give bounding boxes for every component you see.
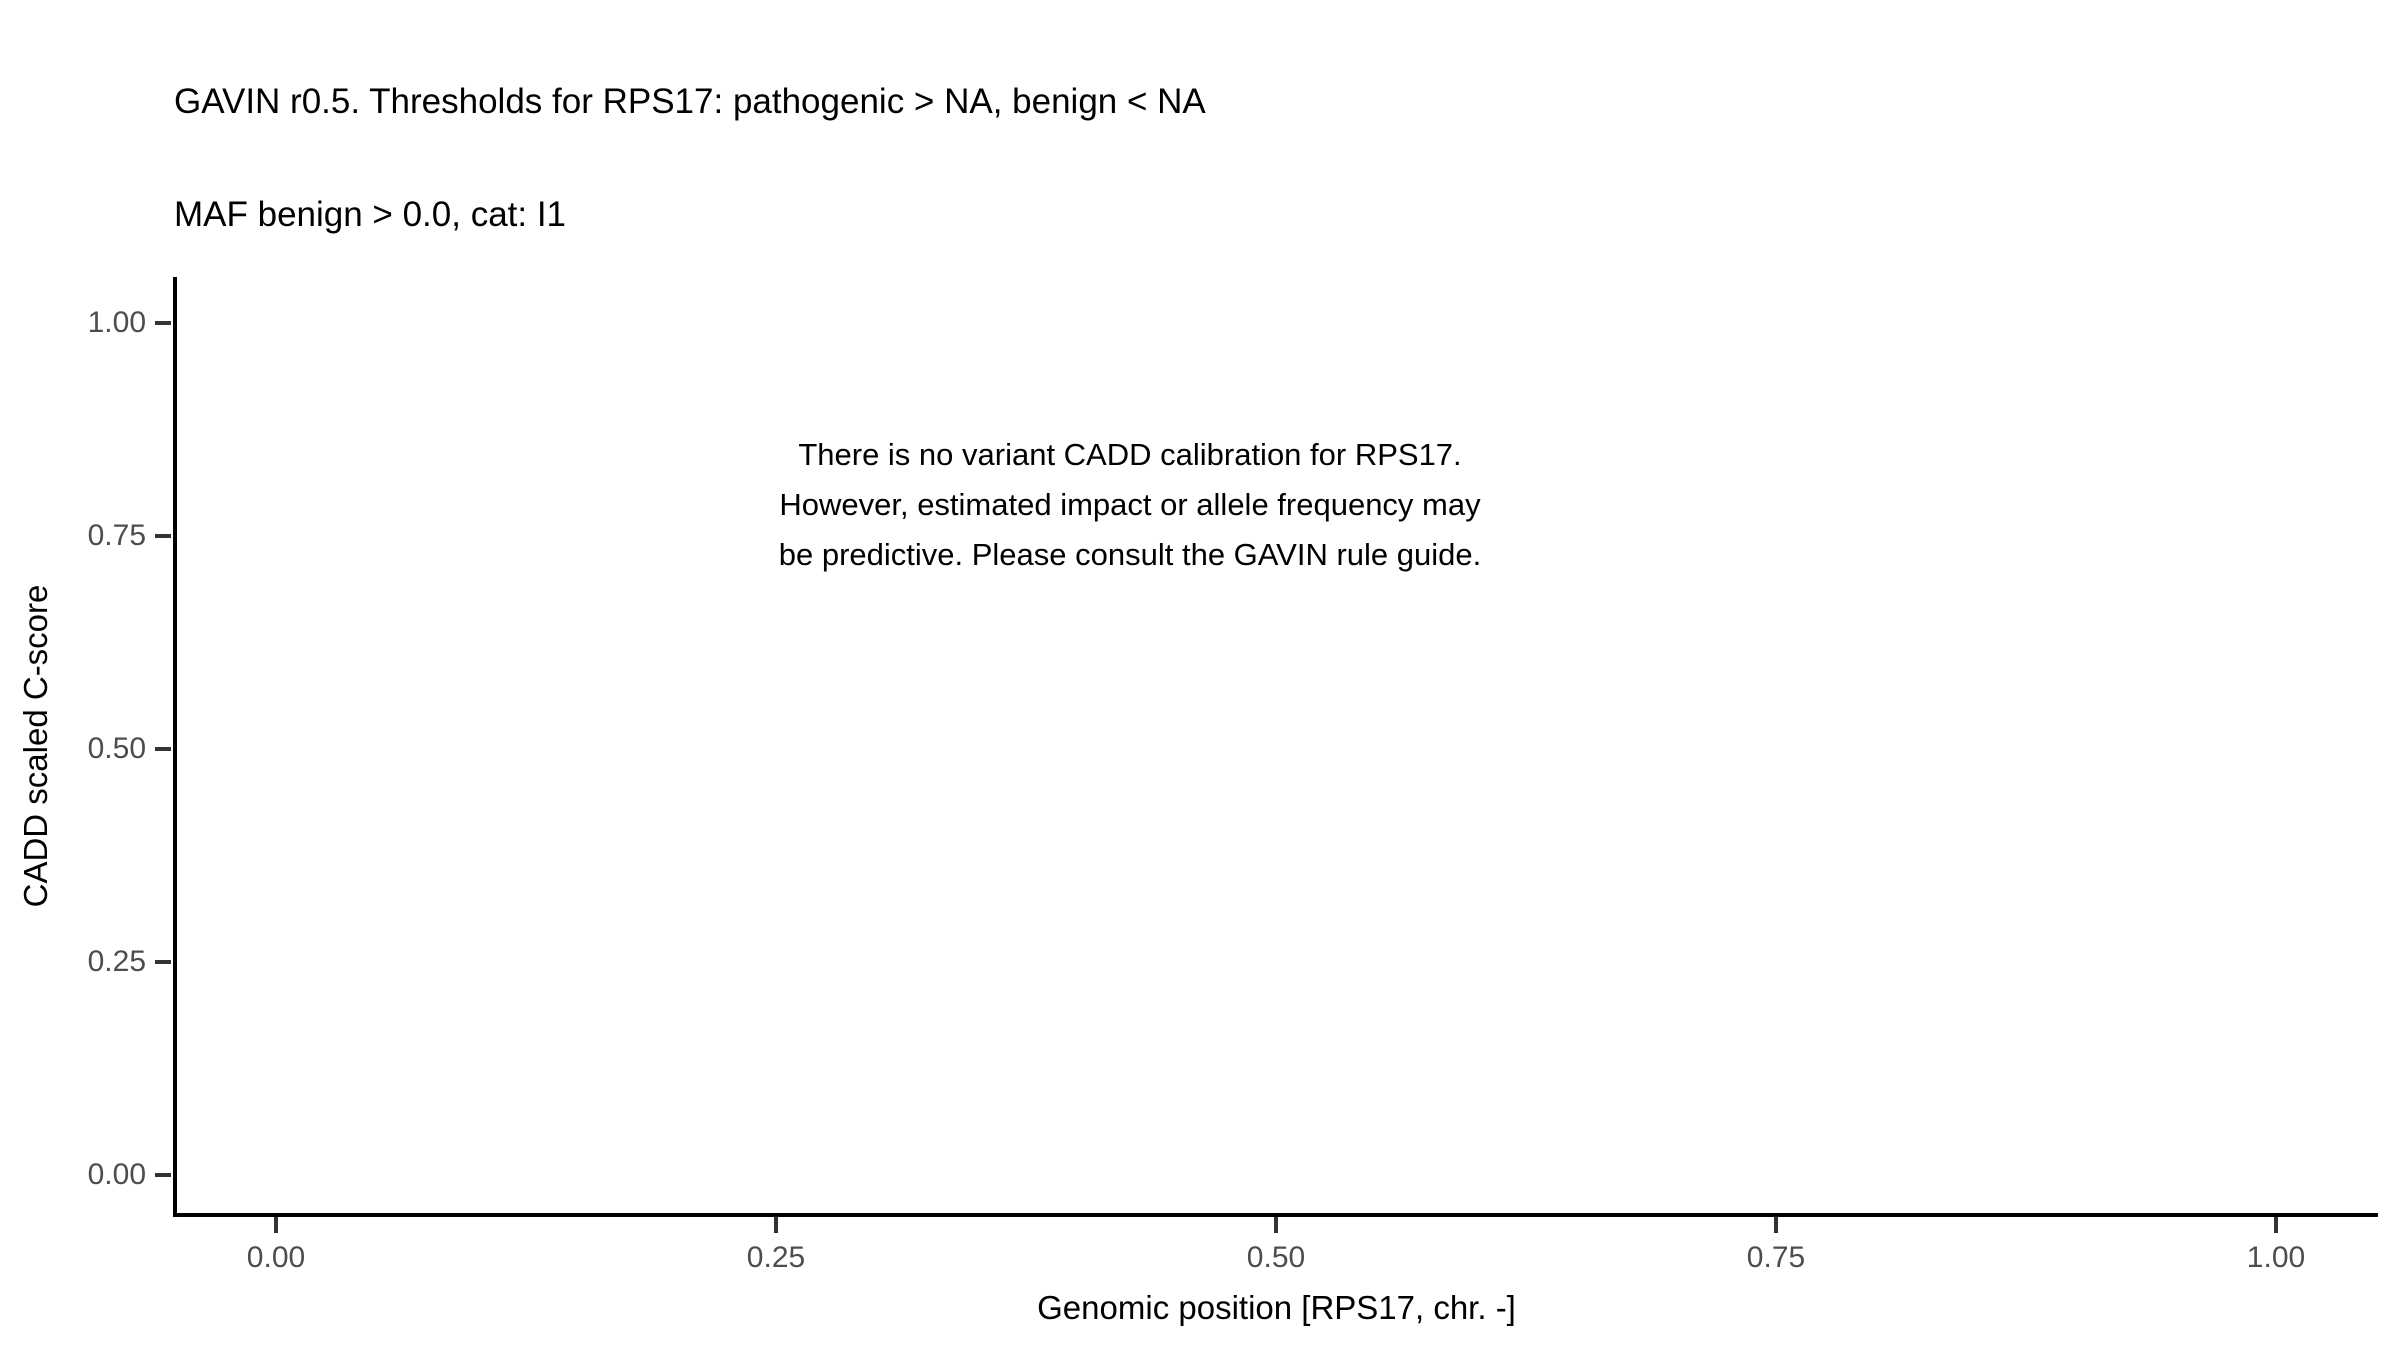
y-axis-tick-0 xyxy=(155,1173,171,1177)
y-axis-tick-2 xyxy=(155,747,171,751)
chart-canvas: GAVIN r0.5. Thresholds for RPS17: pathog… xyxy=(0,0,2400,1350)
y-axis-line xyxy=(173,277,177,1217)
plot-title-line-2: MAF benign > 0.0, cat: I1 xyxy=(174,196,2354,234)
x-axis-tick-label-1: 0.25 xyxy=(747,1243,805,1273)
plot-title-line-1: GAVIN r0.5. Thresholds for RPS17: pathog… xyxy=(174,83,2354,121)
x-axis-tick-label-2: 0.50 xyxy=(1247,1243,1305,1273)
empty-state-message: There is no variant CADD calibration for… xyxy=(505,430,1755,580)
x-axis-tick-2 xyxy=(1274,1217,1278,1233)
empty-state-message-line-2: However, estimated impact or allele freq… xyxy=(505,480,1755,530)
plot-panel xyxy=(175,277,2378,1215)
y-axis-title: CADD scaled C-score xyxy=(14,277,58,1215)
y-axis-tick-label-0: 0.00 xyxy=(88,1160,146,1190)
y-axis-tick-label-3: 0.75 xyxy=(88,521,146,551)
x-axis-tick-label-4: 1.00 xyxy=(2247,1243,2305,1273)
y-axis-tick-1 xyxy=(155,960,171,964)
x-axis-tick-4 xyxy=(2274,1217,2278,1233)
x-axis-tick-3 xyxy=(1774,1217,1778,1233)
y-axis-tick-3 xyxy=(155,534,171,538)
empty-state-message-line-3: be predictive. Please consult the GAVIN … xyxy=(505,530,1755,580)
empty-state-message-line-1: There is no variant CADD calibration for… xyxy=(505,430,1755,480)
x-axis-tick-0 xyxy=(274,1217,278,1233)
x-axis-tick-1 xyxy=(774,1217,778,1233)
y-axis-tick-label-2: 0.50 xyxy=(88,734,146,764)
y-axis-tick-label-1: 0.25 xyxy=(88,947,146,977)
y-axis-tick-label-4: 1.00 xyxy=(88,308,146,338)
x-axis-title: Genomic position [RPS17, chr. -] xyxy=(175,1288,2378,1328)
x-axis-tick-label-3: 0.75 xyxy=(1747,1243,1805,1273)
y-axis-tick-4 xyxy=(155,321,171,325)
x-axis-tick-label-0: 0.00 xyxy=(247,1243,305,1273)
